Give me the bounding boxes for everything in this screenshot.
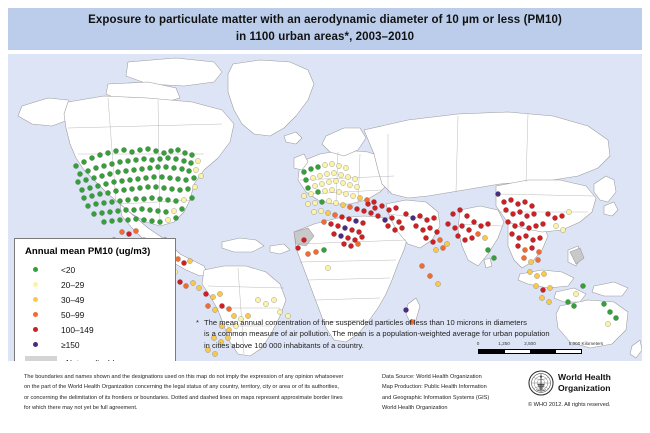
footnote-line2: is a common measure of air pollution. Th… bbox=[204, 329, 550, 338]
pm10-data-point bbox=[444, 241, 449, 246]
pm10-data-point bbox=[312, 183, 317, 188]
pm10-data-point bbox=[437, 237, 442, 242]
pm10-data-point bbox=[471, 219, 476, 224]
pm10-data-point bbox=[99, 210, 104, 215]
pm10-data-point bbox=[501, 199, 506, 204]
pm10-data-point bbox=[185, 186, 190, 191]
pm10-data-point bbox=[109, 218, 114, 223]
pm10-data-point bbox=[125, 197, 130, 202]
pm10-data-point bbox=[313, 249, 318, 254]
pm10-data-point bbox=[503, 207, 508, 212]
pm10-data-point bbox=[319, 199, 324, 204]
pm10-data-point bbox=[125, 158, 130, 163]
pm10-data-point bbox=[87, 185, 92, 190]
disclaimer-line1: The boundaries and names shown and the d… bbox=[24, 374, 343, 380]
pm10-data-point bbox=[105, 190, 110, 195]
pm10-data-point bbox=[491, 255, 496, 260]
pm10-data-point bbox=[147, 207, 152, 212]
world-map[interactable]: .ld{fill:#ffffff;stroke:#9a9a9a;stroke-w… bbox=[8, 54, 642, 361]
pm10-data-point bbox=[195, 158, 200, 163]
legend-item-gte150[interactable]: ≥150 bbox=[23, 337, 169, 352]
pm10-data-point bbox=[336, 163, 341, 168]
pm10-data-point bbox=[345, 235, 350, 240]
pm10-data-point bbox=[99, 173, 104, 178]
legend-item-not-applicable[interactable]: Not applicable bbox=[23, 354, 169, 361]
pm10-data-point bbox=[347, 182, 352, 187]
pm10-data-point bbox=[335, 223, 340, 228]
legend-item-50-99[interactable]: 50–99 bbox=[23, 307, 169, 322]
pm10-data-point bbox=[333, 200, 338, 205]
pm10-data-point bbox=[368, 210, 373, 215]
pm10-data-point bbox=[157, 156, 162, 161]
legend-color-swatch bbox=[25, 356, 57, 361]
pm10-data-point bbox=[81, 195, 86, 200]
pm10-data-point bbox=[521, 255, 526, 260]
pm10-data-point bbox=[559, 213, 564, 218]
pm10-data-point bbox=[190, 280, 195, 285]
pm10-data-point bbox=[101, 219, 106, 224]
pm10-data-point bbox=[345, 174, 350, 179]
pm10-data-point bbox=[526, 225, 531, 230]
pm10-data-point bbox=[410, 215, 415, 220]
pm10-data-point bbox=[331, 231, 336, 236]
pm10-data-point bbox=[462, 237, 467, 242]
pm10-data-point bbox=[173, 156, 178, 161]
pm10-data-point bbox=[305, 185, 310, 190]
pm10-data-point bbox=[417, 213, 422, 218]
pm10-data-point bbox=[119, 229, 124, 234]
pm10-data-point bbox=[322, 162, 327, 167]
scale-end-label: 5,000 Kilometers bbox=[569, 341, 603, 346]
pm10-data-point bbox=[485, 247, 490, 252]
pm10-data-point bbox=[332, 212, 337, 217]
pm10-data-point bbox=[189, 195, 194, 200]
pm10-data-point bbox=[107, 171, 112, 176]
pm10-data-point bbox=[338, 172, 343, 177]
pm10-data-point bbox=[545, 211, 550, 216]
pm10-data-point bbox=[420, 227, 425, 232]
pm10-data-point bbox=[308, 191, 313, 196]
pm10-data-point bbox=[198, 173, 203, 178]
pm10-data-point bbox=[129, 186, 134, 191]
footnote-line1: The mean annual concentration of fine su… bbox=[204, 318, 527, 327]
legend-item-label: 50–99 bbox=[61, 310, 84, 320]
pm10-data-point bbox=[546, 299, 551, 304]
pm10-data-point bbox=[354, 206, 359, 211]
pm10-data-point bbox=[95, 183, 100, 188]
pm10-data-point bbox=[183, 283, 188, 288]
pm10-data-point bbox=[81, 159, 86, 164]
pm10-data-point bbox=[389, 215, 394, 220]
pm10-data-point bbox=[117, 159, 122, 164]
pm10-data-point bbox=[317, 173, 322, 178]
pm10-data-point bbox=[396, 219, 401, 224]
pm10-data-point bbox=[111, 179, 116, 184]
pm10-data-point bbox=[392, 227, 397, 232]
legend-color-dot bbox=[33, 267, 38, 272]
pm10-data-point bbox=[519, 221, 524, 226]
pm10-data-point bbox=[419, 263, 424, 268]
pm10-data-point bbox=[533, 223, 538, 228]
pm10-data-point bbox=[165, 217, 170, 222]
pm10-data-point bbox=[311, 209, 316, 214]
pm10-data-point bbox=[210, 294, 215, 299]
pm10-data-point bbox=[423, 235, 428, 240]
pm10-data-point bbox=[348, 243, 353, 248]
pm10-data-point bbox=[115, 169, 120, 174]
map-title-banner: Exposure to particulate matter with an a… bbox=[8, 8, 642, 50]
pm10-data-point bbox=[126, 231, 131, 236]
disclaimer-line2: on the part of the World Health Organiza… bbox=[24, 384, 339, 390]
pm10-data-point bbox=[113, 148, 118, 153]
who-name-line2: Organization bbox=[558, 383, 611, 393]
pm10-data-point bbox=[540, 287, 545, 292]
pm10-data-point bbox=[305, 201, 310, 206]
pm10-data-point bbox=[343, 165, 348, 170]
copyright-text: © WHO 2012. All rights reserved. bbox=[528, 402, 648, 408]
pm10-data-point bbox=[349, 227, 354, 232]
pm10-data-point bbox=[135, 176, 140, 181]
pm10-data-point bbox=[295, 245, 300, 250]
pm10-data-point bbox=[365, 201, 370, 206]
pm10-data-point bbox=[137, 147, 142, 152]
pm10-data-point bbox=[565, 299, 570, 304]
legend-item-lt20[interactable]: <20 bbox=[23, 262, 169, 277]
pm10-data-point bbox=[169, 186, 174, 191]
pm10-data-point bbox=[340, 202, 345, 207]
pm10-data-point bbox=[333, 178, 338, 183]
pm10-data-point bbox=[85, 203, 90, 208]
who-name-line1: World Health bbox=[558, 372, 611, 382]
pm10-data-point bbox=[186, 168, 191, 173]
pm10-data-point bbox=[459, 223, 464, 228]
disclaimer-line3: or concerning the delimitation of its fr… bbox=[24, 395, 343, 401]
pm10-data-point bbox=[517, 209, 522, 214]
scale-tick-1250: 1,250 bbox=[498, 341, 510, 346]
pm10-data-point bbox=[452, 225, 457, 230]
pm10-data-point bbox=[196, 285, 201, 290]
pm10-data-point bbox=[329, 161, 334, 166]
pm10-data-point bbox=[535, 257, 540, 262]
scale-tick-0: 0 bbox=[477, 341, 480, 346]
pm10-data-point bbox=[277, 309, 282, 314]
pm10-data-point bbox=[226, 306, 231, 311]
pm10-data-point bbox=[113, 188, 118, 193]
source-line1: Data Source: World Health Organization bbox=[382, 374, 482, 380]
legend-item-20-29[interactable]: 20–29 bbox=[23, 277, 169, 292]
pm10-data-point bbox=[427, 273, 432, 278]
pm10-data-point bbox=[127, 177, 132, 182]
pm10-data-point bbox=[478, 223, 483, 228]
pm10-data-point bbox=[482, 235, 487, 240]
pm10-data-point bbox=[440, 245, 445, 250]
legend-color-dot bbox=[33, 327, 38, 332]
pm10-data-point bbox=[255, 297, 260, 302]
pm10-data-point bbox=[359, 234, 364, 239]
pm10-data-point bbox=[530, 237, 535, 242]
pm10-data-point bbox=[393, 205, 398, 210]
pm10-data-point bbox=[133, 228, 138, 233]
pm10-data-point bbox=[189, 152, 194, 157]
pm10-data-point bbox=[131, 167, 136, 172]
pm10-data-point bbox=[161, 150, 166, 155]
pm10-data-point bbox=[338, 233, 343, 238]
legend-item-100-149[interactable]: 100–149 bbox=[23, 322, 169, 337]
pm10-data-point bbox=[182, 150, 187, 155]
pm10-data-point bbox=[301, 169, 306, 174]
pm10-data-point bbox=[109, 199, 114, 204]
pm10-data-point bbox=[107, 209, 112, 214]
pm10-data-point bbox=[191, 175, 196, 180]
pm10-data-point bbox=[123, 207, 128, 212]
legend-item-label: Not applicable bbox=[66, 358, 119, 362]
pm10-data-point bbox=[145, 184, 150, 189]
pm10-data-point bbox=[336, 189, 341, 194]
pm10-data-point bbox=[341, 241, 346, 246]
pm10-data-point bbox=[161, 185, 166, 190]
pm10-data-point bbox=[355, 241, 360, 246]
pm10-data-point bbox=[509, 231, 514, 236]
pm10-data-point bbox=[143, 175, 148, 180]
data-source-block: Data Source: World Health Organization M… bbox=[382, 372, 522, 413]
pm10-data-point bbox=[403, 307, 408, 312]
pm10-data-point bbox=[168, 148, 173, 153]
pm10-data-point bbox=[141, 156, 146, 161]
pm10-data-point bbox=[339, 214, 344, 219]
pm10-data-point bbox=[524, 213, 529, 218]
pm10-data-point bbox=[147, 165, 152, 170]
pm10-data-point bbox=[75, 179, 80, 184]
pm10-data-point bbox=[505, 219, 510, 224]
legend-item-label: 20–29 bbox=[61, 280, 84, 290]
pm10-data-point bbox=[117, 198, 122, 203]
pm10-data-point bbox=[450, 211, 455, 216]
pm10-data-point bbox=[91, 211, 96, 216]
pm10-data-point bbox=[129, 149, 134, 154]
pm10-data-point bbox=[522, 247, 527, 252]
pm10-data-point bbox=[97, 191, 102, 196]
who-branding: World Health Organization © WHO 2012. Al… bbox=[528, 370, 648, 408]
pm10-data-point bbox=[385, 223, 390, 228]
pm10-data-point bbox=[322, 188, 327, 193]
pm10-data-point bbox=[382, 217, 387, 222]
pm10-data-point bbox=[121, 187, 126, 192]
pm10-data-point bbox=[466, 227, 471, 232]
pm10-data-point bbox=[547, 285, 552, 290]
legend-item-label: 100–149 bbox=[61, 325, 94, 335]
pm10-data-point bbox=[605, 321, 610, 326]
pm10-data-point bbox=[115, 208, 120, 213]
pm10-data-point bbox=[155, 208, 160, 213]
pm10-data-point bbox=[529, 245, 534, 250]
pm10-data-point bbox=[431, 215, 436, 220]
pm10-data-point bbox=[139, 166, 144, 171]
pm10-data-point bbox=[165, 155, 170, 160]
pm10-data-point bbox=[177, 279, 182, 284]
pm10-data-point bbox=[183, 177, 188, 182]
pm10-data-point bbox=[179, 166, 184, 171]
pm10-data-point bbox=[145, 146, 150, 151]
pm10-data-point bbox=[424, 217, 429, 222]
legend-color-dot bbox=[33, 297, 38, 302]
pm10-data-point bbox=[175, 256, 180, 261]
pm10-data-point bbox=[469, 235, 474, 240]
pm10-data-point bbox=[342, 225, 347, 230]
pm10-data-point bbox=[159, 174, 164, 179]
pm10-data-point bbox=[173, 198, 178, 203]
pm10-data-point bbox=[165, 197, 170, 202]
pm10-data-point bbox=[305, 251, 310, 256]
page-title-line1: Exposure to particulate matter with an a… bbox=[88, 14, 562, 26]
pm10-data-point bbox=[371, 199, 376, 204]
pm10-data-point bbox=[155, 164, 160, 169]
pm10-data-point bbox=[205, 303, 210, 308]
pm10-data-point bbox=[131, 207, 136, 212]
scale-segment bbox=[505, 350, 531, 353]
legend-item-label: <20 bbox=[61, 265, 75, 275]
pm10-data-point bbox=[325, 210, 330, 215]
pm10-data-point bbox=[179, 206, 184, 211]
disclaimer-line4: for which there may not yet be full agre… bbox=[24, 405, 138, 411]
pm10-data-point bbox=[515, 201, 520, 206]
pm10-data-point bbox=[413, 223, 418, 228]
pm10-data-point bbox=[157, 219, 162, 224]
pm10-data-point bbox=[315, 164, 320, 169]
who-pm10-map-page: Exposure to particulate matter with an a… bbox=[0, 0, 650, 433]
legend-color-dot bbox=[33, 312, 38, 317]
pm10-data-point bbox=[540, 221, 545, 226]
pm10-data-point bbox=[109, 161, 114, 166]
pm10-data-point bbox=[527, 269, 532, 274]
pm10-data-point bbox=[531, 211, 536, 216]
pm10-data-point bbox=[157, 196, 162, 201]
pm10-data-point bbox=[495, 191, 500, 196]
pm10-data-point bbox=[427, 225, 432, 230]
pm10-data-point bbox=[89, 155, 94, 160]
pm10-data-point bbox=[163, 164, 168, 169]
pm10-data-point bbox=[372, 205, 377, 210]
pm10-data-point bbox=[187, 258, 192, 263]
pm10-data-point bbox=[433, 247, 438, 252]
pm10-data-point bbox=[318, 208, 323, 213]
pm10-data-point bbox=[455, 233, 460, 238]
pm10-data-point bbox=[263, 301, 268, 306]
pm10-data-point bbox=[352, 176, 357, 181]
pm10-data-point bbox=[133, 157, 138, 162]
pm10-data-point bbox=[361, 208, 366, 213]
pm10-data-point bbox=[343, 191, 348, 196]
scale-segment bbox=[530, 350, 556, 353]
pm10-data-point bbox=[445, 221, 450, 226]
footnote-line3: in cities above 100 000 inhabitants of a… bbox=[204, 341, 364, 350]
pm10-data-point bbox=[324, 171, 329, 176]
legend-item-30-49[interactable]: 30–49 bbox=[23, 292, 169, 307]
pm10-data-point bbox=[573, 291, 578, 296]
pm10-data-point bbox=[354, 184, 359, 189]
legend-title: Annual mean PM10 (ug/m3) bbox=[25, 246, 169, 257]
pm10-data-point bbox=[315, 189, 320, 194]
pm10-data-point bbox=[533, 283, 538, 288]
pm10-data-point bbox=[193, 167, 198, 172]
pm10-data-point bbox=[153, 148, 158, 153]
pm10-data-point bbox=[534, 273, 539, 278]
pm10-data-point bbox=[375, 213, 380, 218]
pm10-data-point bbox=[181, 260, 186, 265]
pm10-data-point bbox=[510, 211, 515, 216]
pm10-data-point bbox=[560, 227, 565, 232]
legend-item-label: ≥150 bbox=[61, 340, 80, 350]
pm10-data-point bbox=[347, 204, 352, 209]
pm10-data-point bbox=[566, 209, 571, 214]
legend-color-dot bbox=[33, 342, 38, 347]
pm10-data-point bbox=[173, 215, 178, 220]
pm10-data-point bbox=[435, 281, 440, 286]
pm10-data-point bbox=[536, 249, 541, 254]
pm10-data-point bbox=[326, 179, 331, 184]
source-line2: Map Production: Public Health Informatio… bbox=[382, 384, 487, 390]
pm10-data-point bbox=[434, 229, 439, 234]
scale-segment bbox=[556, 350, 582, 353]
pm10-data-point bbox=[321, 247, 326, 252]
pm10-data-point bbox=[308, 166, 313, 171]
who-logo-row: World Health Organization bbox=[528, 370, 648, 396]
pm10-data-point bbox=[328, 221, 333, 226]
pm10-data-point bbox=[83, 177, 88, 182]
pm10-data-point bbox=[151, 174, 156, 179]
pm10-data-point bbox=[73, 163, 78, 168]
pm10-data-point bbox=[77, 171, 82, 176]
map-legend: Annual mean PM10 (ug/m3) <20 20–29 30–49… bbox=[14, 238, 176, 361]
pm10-data-point bbox=[360, 220, 365, 225]
pm10-data-point bbox=[508, 197, 513, 202]
pm10-data-point bbox=[552, 215, 557, 220]
page-title: Exposure to particulate matter with an a… bbox=[88, 12, 562, 45]
pm10-data-point bbox=[177, 187, 182, 192]
pm10-data-point bbox=[356, 229, 361, 234]
pm10-data-point bbox=[326, 198, 331, 203]
source-line3: and Geographic Information Systems (GIS) bbox=[382, 395, 489, 401]
pm10-data-point bbox=[539, 295, 544, 300]
pm10-data-point bbox=[137, 185, 142, 190]
pm10-data-point bbox=[89, 193, 94, 198]
page-title-line2: in 1100 urban areas*, 2003–2010 bbox=[236, 31, 414, 43]
pm10-data-point bbox=[141, 217, 146, 222]
pm10-data-point bbox=[379, 203, 384, 208]
pm10-data-point bbox=[271, 297, 276, 302]
pm10-data-point bbox=[133, 216, 138, 221]
pm10-data-point bbox=[117, 217, 122, 222]
pm10-data-point bbox=[485, 221, 490, 226]
footnote-marker: * bbox=[196, 317, 199, 328]
pm10-data-point bbox=[203, 291, 208, 296]
scale-tick-labels: 0 1,250 2,500 5,000 Kilometers bbox=[478, 341, 628, 349]
pm10-data-point bbox=[97, 152, 102, 157]
pm10-data-point bbox=[512, 223, 517, 228]
pm10-data-point bbox=[325, 265, 330, 270]
pm10-data-point bbox=[93, 165, 98, 170]
pm10-data-point bbox=[79, 187, 84, 192]
pm10-data-point bbox=[331, 170, 336, 175]
pm10-data-point bbox=[133, 196, 138, 201]
pm10-data-point bbox=[515, 243, 520, 248]
scale-bar-track bbox=[478, 349, 582, 354]
pm10-data-point bbox=[149, 218, 154, 223]
pm10-data-point bbox=[212, 351, 217, 356]
pm10-data-point bbox=[85, 168, 90, 173]
pm10-data-point bbox=[125, 217, 130, 222]
who-emblem-icon bbox=[528, 370, 554, 396]
pm10-data-point bbox=[386, 207, 391, 212]
